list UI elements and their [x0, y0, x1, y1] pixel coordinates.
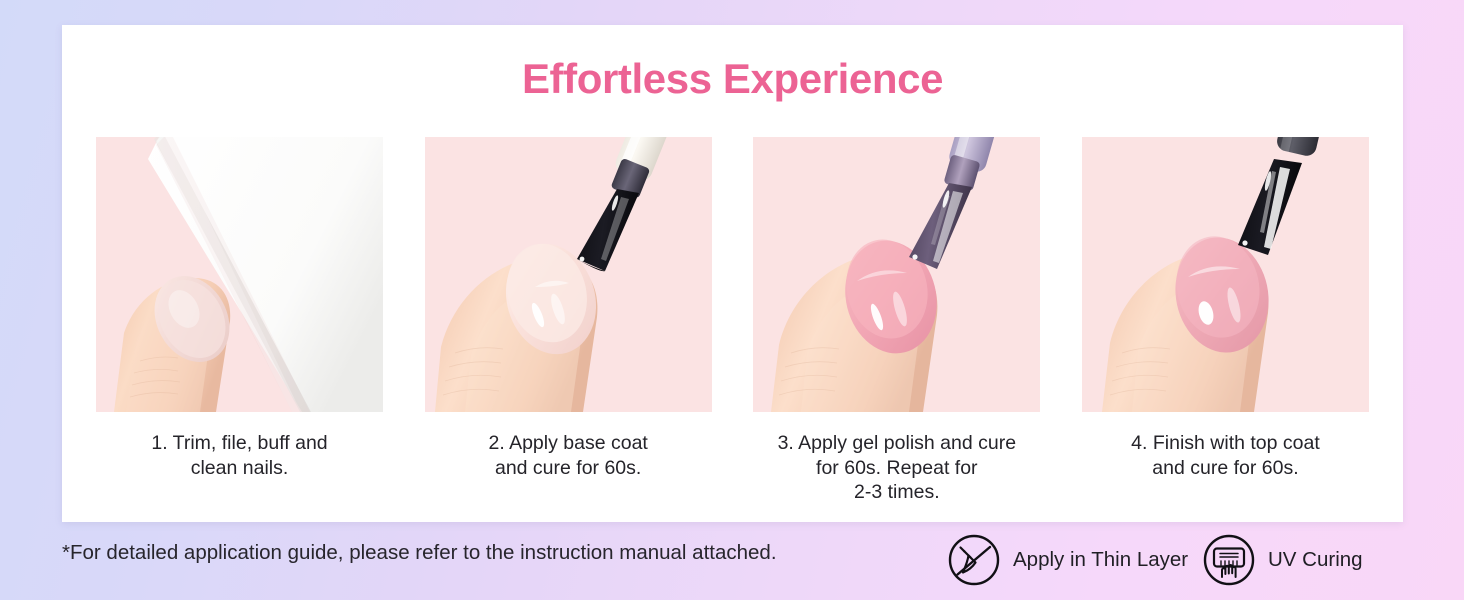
footer: *For detailed application guide, please …	[0, 524, 1464, 600]
badge-label: UV Curing	[1268, 548, 1363, 572]
step-caption: 2. Apply base coat and cure for 60s.	[425, 431, 712, 480]
step-item: 1. Trim, file, buff and clean nails.	[96, 137, 383, 505]
nail-file-illustration	[96, 137, 383, 412]
page-title: Effortless Experience	[62, 55, 1403, 103]
uv-lamp-icon	[1203, 534, 1255, 586]
step-item: 4. Finish with top coat and cure for 60s…	[1082, 137, 1369, 505]
step-1-photo-trim-file	[96, 137, 383, 412]
step-caption: 3. Apply gel polish and cure for 60s. Re…	[753, 431, 1040, 505]
step-2-photo-base-coat	[425, 137, 712, 412]
thin-layer-icon	[948, 534, 1000, 586]
step-item: 3. Apply gel polish and cure for 60s. Re…	[753, 137, 1040, 505]
gel-polish-illustration	[753, 137, 1040, 412]
badge-apply-thin-layer: Apply in Thin Layer	[948, 534, 1188, 586]
step-caption: 4. Finish with top coat and cure for 60s…	[1082, 431, 1369, 480]
steps-row: 1. Trim, file, buff and clean nails.	[96, 137, 1369, 505]
badge-uv-curing: UV Curing	[1203, 534, 1363, 586]
step-caption: 1. Trim, file, buff and clean nails.	[96, 431, 383, 480]
promo-banner: Effortless Experience	[0, 0, 1464, 600]
step-item: 2. Apply base coat and cure for 60s.	[425, 137, 712, 505]
content-card: Effortless Experience	[62, 25, 1403, 522]
step-4-photo-top-coat	[1082, 137, 1369, 412]
step-3-photo-gel-polish	[753, 137, 1040, 412]
base-coat-illustration	[425, 137, 712, 412]
top-coat-illustration	[1082, 137, 1369, 412]
footer-note: *For detailed application guide, please …	[62, 541, 777, 565]
badge-label: Apply in Thin Layer	[1013, 548, 1188, 572]
